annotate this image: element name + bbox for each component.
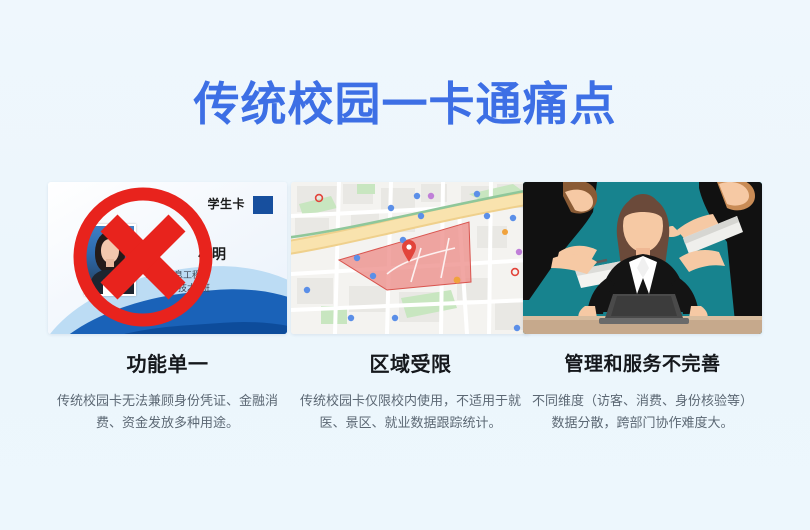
pain-point-body-1: 传统校园卡无法兼顾身份凭证、金融消费、资金发放多种用途。 <box>48 390 287 434</box>
thumbnail-student-id-card: 学生卡 小明 23级信息工程系 软件技术2班 <box>48 182 287 334</box>
slide-root: 传统校园一卡通痛点 学生卡 小明 23级信息工程系 软件 <box>0 0 810 530</box>
map-illustration <box>291 182 530 334</box>
pain-point-column-3: 管理和服务不完善 不同维度（访客、消费、身份核验等）数据分散，跨部门协作难度大。 <box>523 182 762 434</box>
pain-point-column-2: 区域受限 传统校园卡仅限校内使用，不适用于就医、景区、就业数据跟踪统计。 <box>291 182 530 434</box>
pain-point-body-3: 不同维度（访客、消费、身份核验等）数据分散，跨部门协作难度大。 <box>523 390 762 434</box>
card-logo-square <box>253 196 273 214</box>
photo-neck <box>106 259 114 267</box>
student-id-card-illustration: 学生卡 小明 23级信息工程系 软件技术2班 <box>48 182 287 334</box>
pain-point-heading-2: 区域受限 <box>291 353 530 377</box>
card-type-label: 学生卡 <box>207 195 245 212</box>
thumbnail-map <box>291 182 530 334</box>
thumbnail-office-illustration <box>523 182 762 334</box>
pain-point-heading-3: 管理和服务不完善 <box>523 353 762 377</box>
pain-point-heading-1: 功能单一 <box>48 353 287 377</box>
office-worker-illustration <box>523 182 762 334</box>
pain-point-body-2: 传统校园卡仅限校内使用，不适用于就医、景区、就业数据跟踪统计。 <box>291 390 530 434</box>
student-name: 小明 <box>198 244 226 264</box>
page-title: 传统校园一卡通痛点 <box>0 78 810 130</box>
pain-point-column-1: 学生卡 小明 23级信息工程系 软件技术2班 <box>48 182 287 434</box>
student-department: 23级信息工程系 <box>146 268 210 281</box>
student-class: 软件技术2班 <box>160 281 210 294</box>
student-photo <box>84 224 136 296</box>
